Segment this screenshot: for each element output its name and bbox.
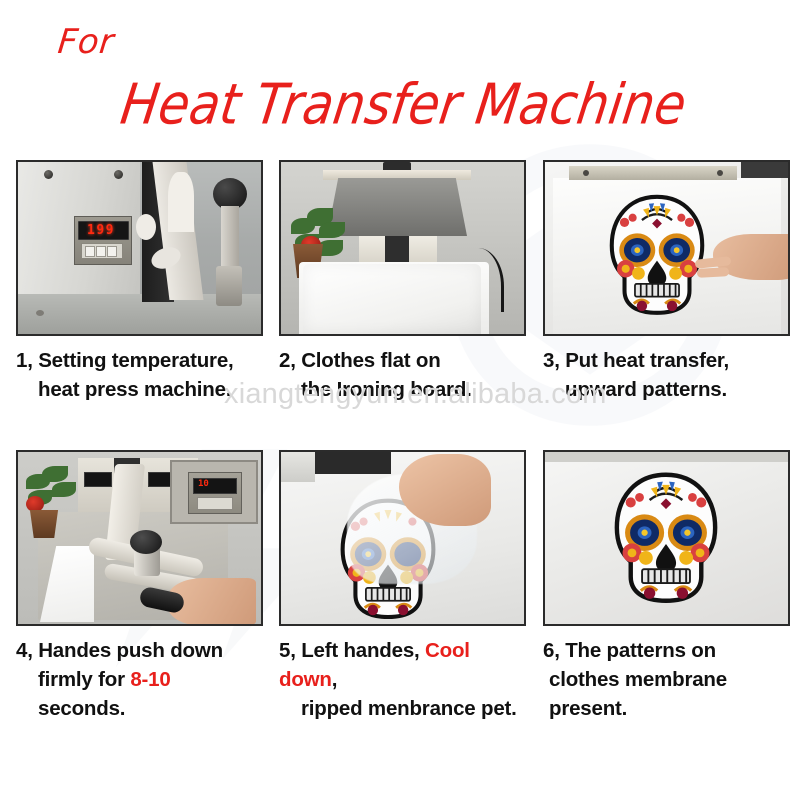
potted-plant <box>24 466 80 526</box>
transfer-placed-on-fabric-photo <box>543 160 790 336</box>
step-caption-4: 4, Handes push down firmly for 8-10 seco… <box>16 636 263 723</box>
heat-press-control-panel-photo: 199 <box>16 160 263 336</box>
page-title: Heat Transfer Machine <box>117 72 690 137</box>
temperature-controller-panel: 199 <box>74 216 132 265</box>
step-duration-highlight: 8-10 <box>130 668 170 691</box>
step-caption-4-line1: 4, Handes push down <box>16 639 223 662</box>
step-caption-6-line2: clothes membrane present. <box>543 665 790 723</box>
step-caption-1-line2: heat press machine. <box>16 375 263 404</box>
finished-pattern-photo <box>543 450 790 626</box>
step-caption-6-line1: 6, The patterns on <box>543 639 716 662</box>
step-caption-4-line2: firmly for 8-10 seconds. <box>16 665 263 723</box>
steps-grid: 199 1, Setting temperature, heat press m… <box>0 160 800 740</box>
step-caption-3-line1: 3, Put heat transfer, <box>543 349 729 372</box>
step-caption-5-line1: 5, Left handes, Cool down, <box>279 639 470 691</box>
peel-membrane-photo <box>279 450 526 626</box>
steps-row-1: 199 1, Setting temperature, heat press m… <box>0 160 800 450</box>
step-card-6: 6, The patterns on clothes membrane pres… <box>543 450 790 723</box>
handle-push-down-photo: 10 <box>16 450 263 626</box>
display-closeup-inset: 10 <box>170 460 258 524</box>
step-caption-5-line1-pre: 5, Left handes, <box>279 639 425 662</box>
step-card-3: 3, Put heat transfer, upward patterns. <box>543 160 790 404</box>
instruction-poster: For Heat Transfer Machine <box>0 0 800 800</box>
step-card-5: 5, Left handes, Cool down, ripped menbra… <box>279 450 526 723</box>
sugar-skull-design <box>603 464 729 614</box>
inset-display-value: 10 <box>198 479 209 489</box>
step-caption-5-line2: ripped menbrance pet. <box>279 694 526 723</box>
sugar-skull-design <box>599 192 715 320</box>
temperature-display-value: 199 <box>87 223 115 238</box>
step-caption-5-line1-post: , <box>332 668 338 691</box>
step-caption-2-line1: 2, Clothes flat on <box>279 349 441 372</box>
page-title-prefix: For <box>56 22 116 62</box>
step-caption-4-line2-pre: firmly for <box>38 668 130 691</box>
press-open-with-cloth-photo <box>279 160 526 336</box>
step-caption-3: 3, Put heat transfer, upward patterns. <box>543 346 790 404</box>
step-caption-1: 1, Setting temperature, heat press machi… <box>16 346 263 404</box>
step-caption-2-line2: the Ironing board. <box>279 375 526 404</box>
step-caption-5: 5, Left handes, Cool down, ripped menbra… <box>279 636 526 723</box>
step-caption-1-line1: 1, Setting temperature, <box>16 349 234 372</box>
step-caption-3-line2: upward patterns. <box>543 375 790 404</box>
step-caption-6: 6, The patterns on clothes membrane pres… <box>543 636 790 723</box>
step-caption-2: 2, Clothes flat on the Ironing board. <box>279 346 526 404</box>
step-card-4: 10 4, Handes push down firmly for 8-10 s… <box>16 450 263 723</box>
step-caption-4-line2-post: seconds. <box>38 697 125 720</box>
step-card-2: 2, Clothes flat on the Ironing board. <box>279 160 526 404</box>
temperature-display: 199 <box>78 221 129 240</box>
step-card-1: 199 1, Setting temperature, heat press m… <box>16 160 263 404</box>
steps-row-2: 10 4, Handes push down firmly for 8-10 s… <box>0 450 800 740</box>
